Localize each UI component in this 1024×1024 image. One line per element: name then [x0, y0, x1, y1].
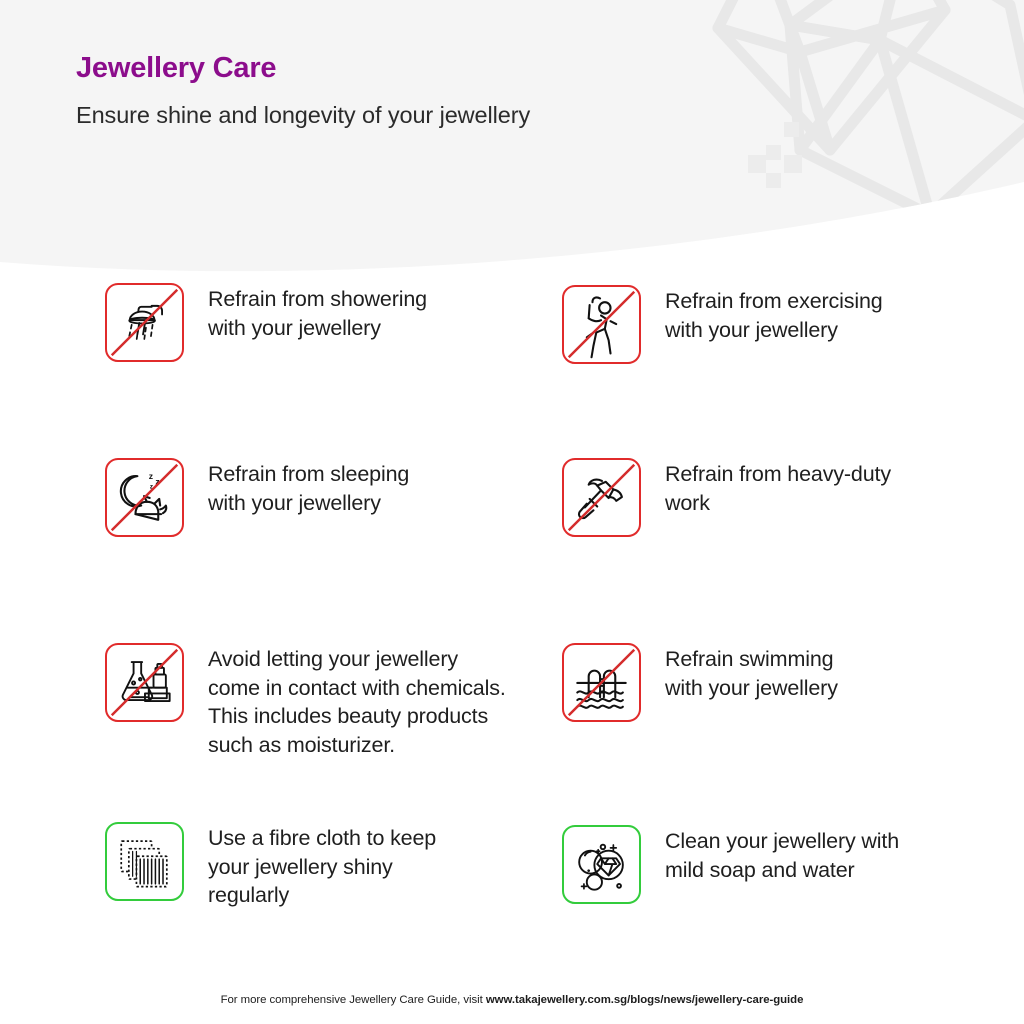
tip-text: Refrain swimming with your jewellery: [665, 643, 838, 702]
shower-head-icon: [105, 283, 184, 362]
tip-text: Clean your jewellery with mild soap and …: [665, 825, 899, 884]
tip-fibre-cloth: Use a fibre cloth to keep your jewellery…: [105, 822, 436, 910]
tip-text: Refrain from exercising with your jewell…: [665, 285, 883, 344]
page-title: Jewellery Care: [76, 52, 530, 85]
tip-swimming: Refrain swimming with your jewellery: [562, 643, 838, 722]
header-text-group: Jewellery Care Ensure shine and longevit…: [76, 52, 530, 130]
header-background-shape: [0, 0, 1024, 275]
strike-line: [112, 650, 178, 716]
exercising-person-icon: [562, 285, 641, 364]
strike-line: [112, 290, 178, 356]
tip-text: Avoid letting your jewellery come in con…: [208, 643, 506, 759]
svg-text:z: z: [149, 471, 153, 481]
infographic-page: Jewellery Care Ensure shine and longevit…: [0, 0, 1024, 1024]
hammer-icon: [562, 458, 641, 537]
tip-showering: Refrain from showering with your jewelle…: [105, 283, 427, 362]
sleeping-cat-moon-icon: z z z: [105, 458, 184, 537]
tip-exercising: Refrain from exercising with your jewell…: [562, 285, 883, 364]
strike-line: [569, 465, 635, 531]
tip-mild-soap: Clean your jewellery with mild soap and …: [562, 825, 899, 904]
tip-text: Refrain from showering with your jewelle…: [208, 283, 427, 342]
soap-bubbles-diamond-icon: [562, 825, 641, 904]
footer-lead-text: For more comprehensive Jewellery Care Gu…: [221, 994, 486, 1006]
header-banner: Jewellery Care Ensure shine and longevit…: [0, 0, 1024, 275]
footer-url[interactable]: www.takajewellery.com.sg/blogs/news/jewe…: [486, 994, 804, 1006]
tip-text: Use a fibre cloth to keep your jewellery…: [208, 822, 436, 910]
swimming-pool-ladder-icon: [562, 643, 641, 722]
tip-text: Refrain from sleeping with your jeweller…: [208, 458, 409, 517]
tip-heavy-duty-work: Refrain from heavy-duty work: [562, 458, 891, 537]
page-subtitle: Ensure shine and longevity of your jewel…: [76, 101, 530, 129]
tip-sleeping: z z z Refrain from sleeping with your je…: [105, 458, 409, 537]
chemical-flask-bottles-icon: [105, 643, 184, 722]
strike-line: [569, 292, 635, 358]
fibre-cloth-stack-icon: [105, 822, 184, 901]
tip-text: Refrain from heavy-duty work: [665, 458, 891, 517]
footer-note: For more comprehensive Jewellery Care Gu…: [0, 994, 1024, 1006]
tip-chemicals: Avoid letting your jewellery come in con…: [105, 643, 506, 759]
